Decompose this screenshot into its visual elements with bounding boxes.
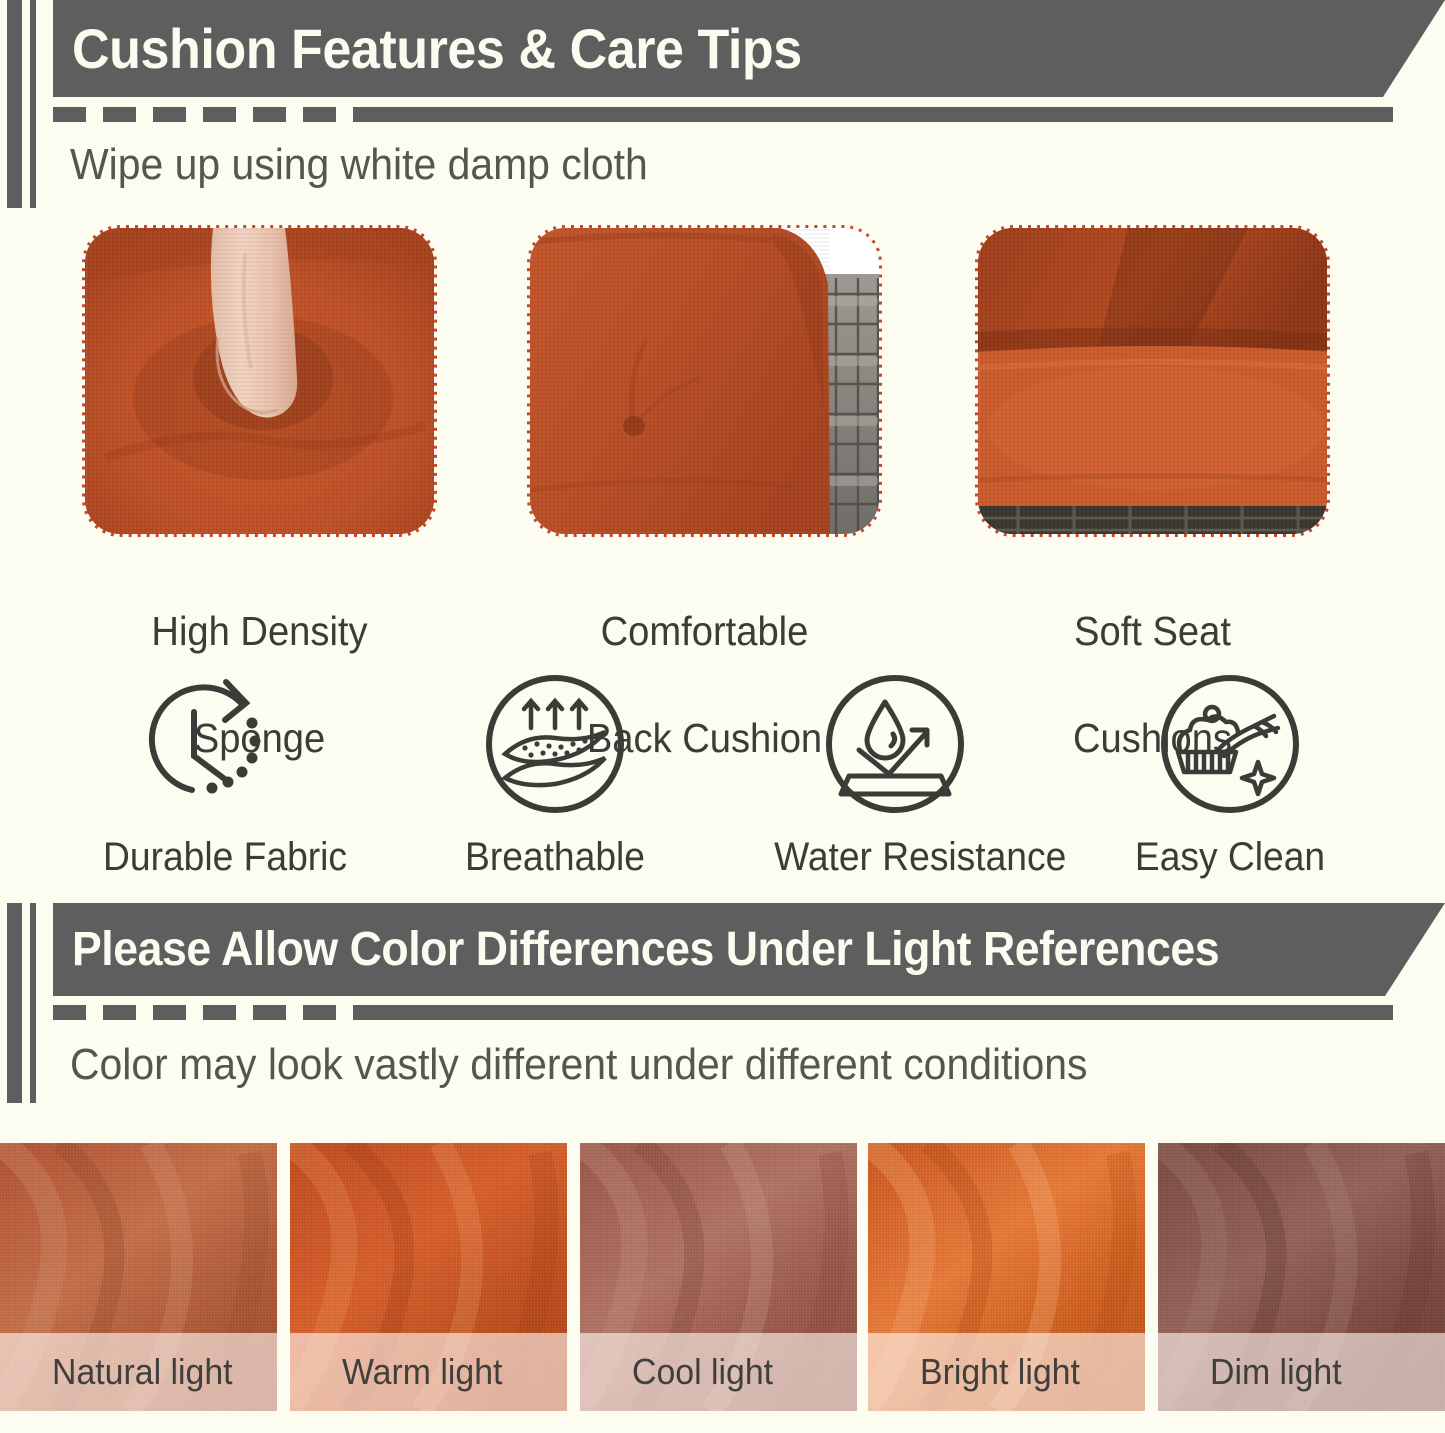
care-subtitle-text: Wipe up using white damp cloth (70, 140, 648, 190)
swatch-cool-light: Cool light (580, 1143, 857, 1411)
header-rail-thin (30, 903, 36, 1103)
breathable-fabric-arrows-icon (440, 668, 670, 825)
care-title-text: Cushion Features & Care Tips (72, 16, 802, 81)
feature-label: Durable Fabric (103, 835, 317, 880)
caption-line-1: Comfortable (539, 605, 869, 658)
swatch-dim-light: Dim light (1158, 1143, 1445, 1411)
feature-breathable: Breathable (440, 668, 670, 880)
feature-label: Easy Clean (1123, 835, 1337, 880)
swatch-warm-light: Warm light (290, 1143, 567, 1411)
infographic-page: Cushion Features & Care Tips Wipe up usi… (0, 0, 1445, 1433)
header-rail-thick (7, 0, 22, 208)
hand-pressing-orange-cushion-photo (85, 228, 434, 534)
photo-card-soft-seat-cushions (975, 225, 1330, 537)
care-title-band: Cushion Features & Care Tips (53, 0, 1445, 97)
swatch-label-text: Dim light (1210, 1351, 1342, 1393)
swatch-natural-light: Natural light (0, 1143, 277, 1411)
swatch-label-overlay: Dim light (1158, 1333, 1445, 1411)
color-title-band: Please Allow Color Differences Under Lig… (53, 903, 1445, 996)
feature-label: Breathable (448, 835, 662, 880)
color-dash-separator (53, 1005, 1393, 1020)
swatch-label-text: Cool light (632, 1351, 773, 1393)
color-subtitle-text: Color may look vastly different under di… (70, 1040, 1087, 1090)
water-droplet-repel-icon (765, 668, 1025, 825)
swatch-label-overlay: Bright light (868, 1333, 1145, 1411)
header-rail-thin (30, 0, 36, 208)
color-title-text: Please Allow Color Differences Under Lig… (72, 922, 1219, 977)
photo-card-high-density-sponge (82, 225, 437, 537)
orange-back-cushion-with-wicker-photo (530, 228, 879, 534)
caption-line-1: Soft Seat (987, 605, 1317, 658)
swatch-label-text: Bright light (920, 1351, 1080, 1393)
clock-arrow-icon (95, 668, 325, 825)
orange-seat-cushion-on-wicker-photo (978, 228, 1327, 534)
care-dash-separator (53, 107, 1393, 122)
feature-durable-fabric: Durable Fabric (95, 668, 325, 880)
swatch-label-overlay: Natural light (0, 1333, 277, 1411)
swatch-label-text: Natural light (52, 1351, 233, 1393)
feature-water-resistance: Water Resistance (765, 668, 1025, 880)
swatch-label-overlay: Warm light (290, 1333, 567, 1411)
swatch-label-text: Warm light (342, 1351, 502, 1393)
photo-card-comfortable-back-cushion (527, 225, 882, 537)
brush-cleaning-sparkle-icon (1115, 668, 1345, 825)
feature-easy-clean: Easy Clean (1115, 668, 1345, 880)
swatch-bright-light: Bright light (868, 1143, 1145, 1411)
caption-line-1: High Density (94, 605, 424, 658)
header-rail-thick (7, 903, 22, 1103)
swatch-label-overlay: Cool light (580, 1333, 857, 1411)
feature-label: Water Resistance (774, 835, 1016, 880)
